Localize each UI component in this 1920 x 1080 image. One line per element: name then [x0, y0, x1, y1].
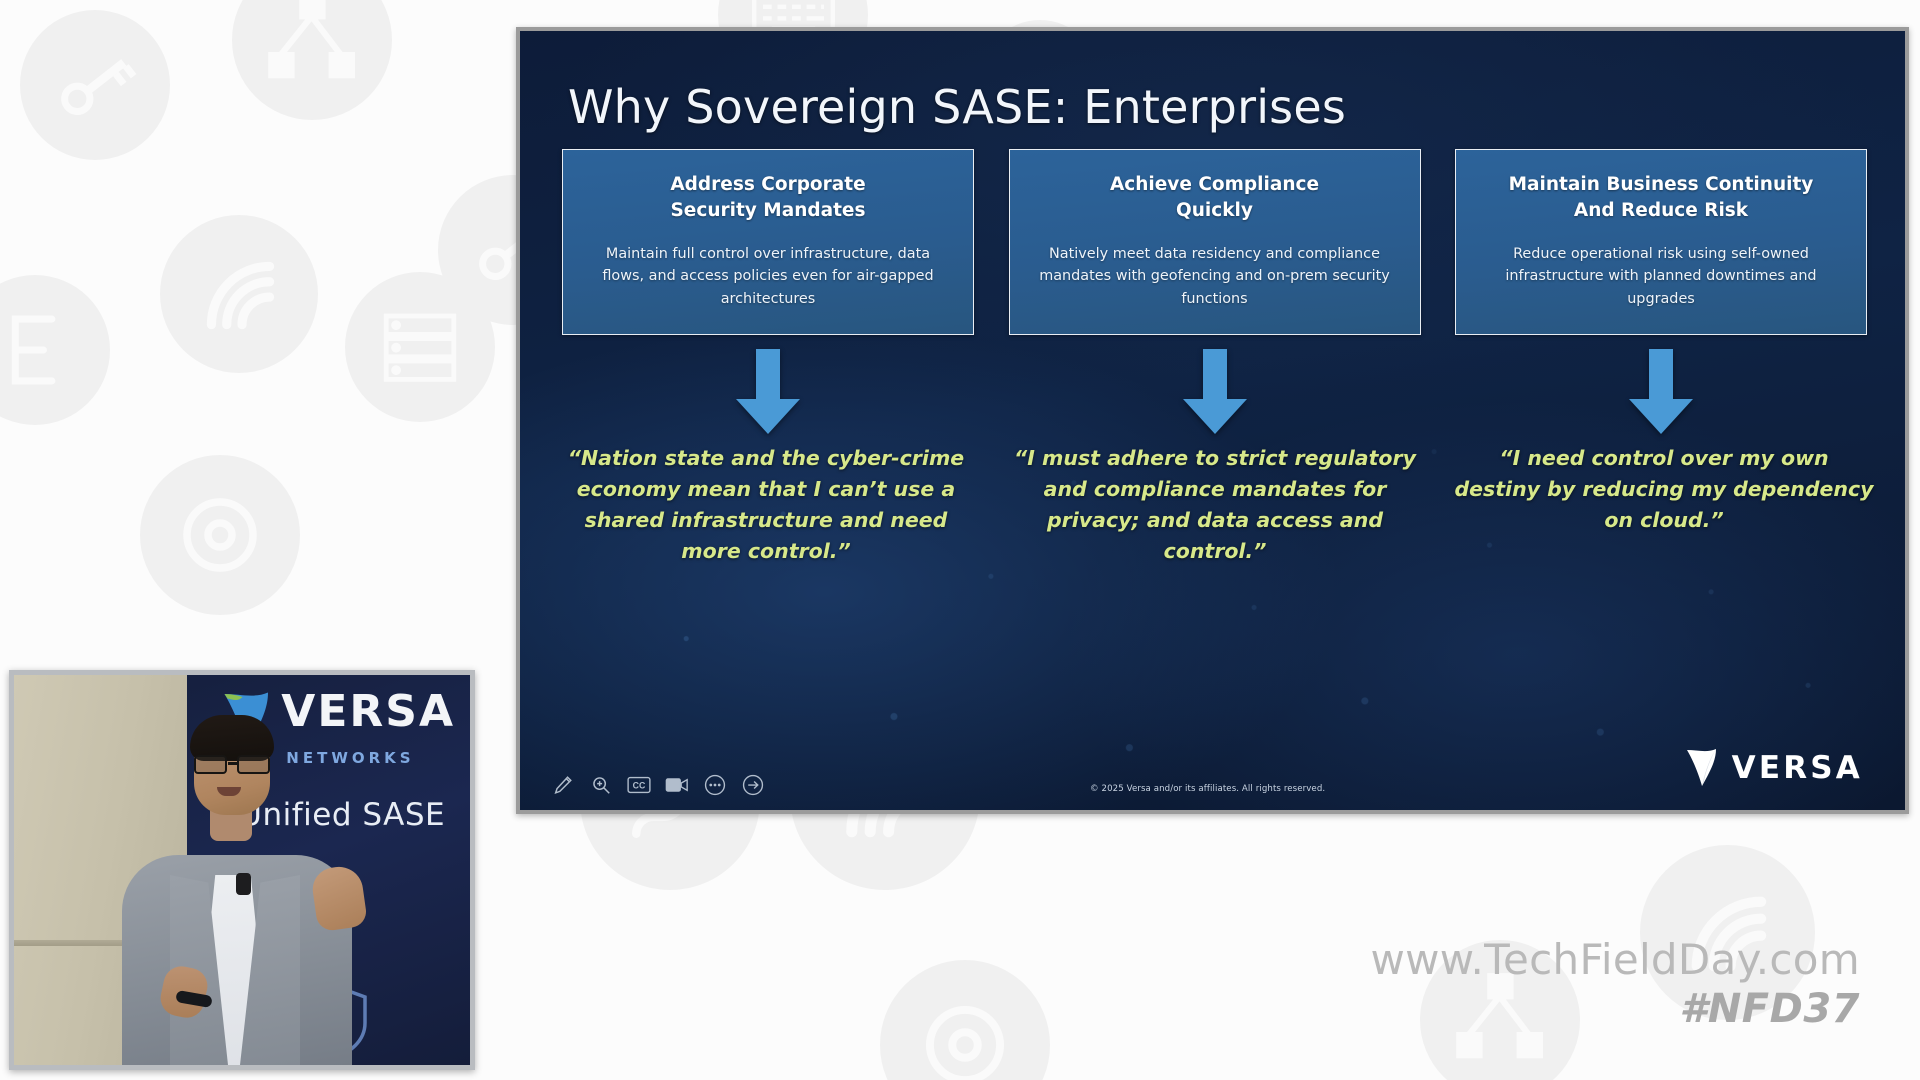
arrow-down-icon — [734, 349, 802, 439]
versa-wordmark: VERSA — [1732, 750, 1863, 786]
speaker-glasses — [192, 755, 272, 775]
slide-frame: Why Sovereign SASE: Enterprises Address … — [516, 27, 1909, 814]
slide-canvas: Why Sovereign SASE: Enterprises Address … — [520, 31, 1905, 810]
benefit-card-body: Maintain full control over infrastructur… — [583, 243, 953, 310]
arrow-right-icon[interactable] — [740, 772, 766, 798]
benefit-card: Address CorporateSecurity Mandates Maint… — [562, 149, 974, 335]
arrow-slot — [1455, 349, 1867, 439]
svg-text:CC: CC — [633, 781, 646, 791]
tfd-hashtag: #NFD37 — [1370, 986, 1860, 1032]
benefit-card-title: Achieve ComplianceQuickly — [1030, 172, 1400, 225]
more-options-icon[interactable] — [702, 772, 728, 798]
benefit-card: Achieve ComplianceQuickly Natively meet … — [1009, 149, 1421, 335]
closed-captions-icon[interactable]: CC — [626, 772, 652, 798]
arrow-row — [562, 349, 1867, 439]
arrow-down-icon — [1181, 349, 1249, 439]
disc-icon — [880, 960, 1050, 1080]
benefit-card-title: Address CorporateSecurity Mandates — [583, 172, 953, 225]
benefit-card-body: Natively meet data residency and complia… — [1030, 243, 1400, 310]
copyright-notice: © 2025 Versa and/or its affiliates. All … — [1090, 784, 1325, 794]
tech-field-day-watermark: www.TechFieldDay.com #NFD37 — [1370, 935, 1860, 1032]
network-nodes-icon — [232, 0, 392, 120]
customer-quote: “I must adhere to strict regulatory and … — [1005, 443, 1425, 583]
lapel-microphone — [236, 873, 251, 895]
pen-icon[interactable] — [550, 772, 576, 798]
customer-quote: “I need control over my own destiny by r… — [1454, 443, 1874, 583]
benefit-card-title: Maintain Business ContinuityAnd Reduce R… — [1476, 172, 1846, 225]
benefit-card: Maintain Business ContinuityAnd Reduce R… — [1455, 149, 1867, 335]
arrow-slot — [562, 349, 974, 439]
camera-icon[interactable] — [664, 772, 690, 798]
benefit-card-row: Address CorporateSecurity Mandates Maint… — [562, 149, 1867, 335]
benefit-card-body: Reduce operational risk using self-owned… — [1476, 243, 1846, 310]
disc-icon — [140, 455, 300, 615]
glasses-lens-right — [237, 755, 270, 774]
key-icon — [20, 10, 170, 160]
speaker-figure — [14, 675, 470, 1065]
quote-row: “Nation state and the cyber-crime econom… — [556, 443, 1874, 583]
bracket-icon — [0, 275, 110, 425]
presenter-video[interactable]: VERSA NETWORKS Unified SASE 2 re — [14, 675, 470, 1065]
customer-quote: “Nation state and the cyber-crime econom… — [556, 443, 976, 583]
magnifier-icon[interactable] — [588, 772, 614, 798]
speaker-hand-right — [310, 864, 368, 932]
versa-mark-icon — [1685, 748, 1719, 788]
server-rack-icon — [345, 272, 495, 422]
arrow-slot — [1009, 349, 1421, 439]
versa-logo: VERSA — [1685, 748, 1863, 788]
wifi-signal-icon — [160, 215, 318, 373]
slide-toolbar[interactable]: CC — [550, 772, 766, 798]
presenter-video-frame[interactable]: VERSA NETWORKS Unified SASE 2 re — [9, 670, 475, 1070]
glasses-lens-left — [194, 755, 227, 774]
slide-title: Why Sovereign SASE: Enterprises — [568, 80, 1346, 134]
page-root: Why Sovereign SASE: Enterprises Address … — [0, 0, 1920, 1080]
tfd-url: www.TechFieldDay.com — [1370, 935, 1860, 984]
arrow-down-icon — [1627, 349, 1695, 439]
